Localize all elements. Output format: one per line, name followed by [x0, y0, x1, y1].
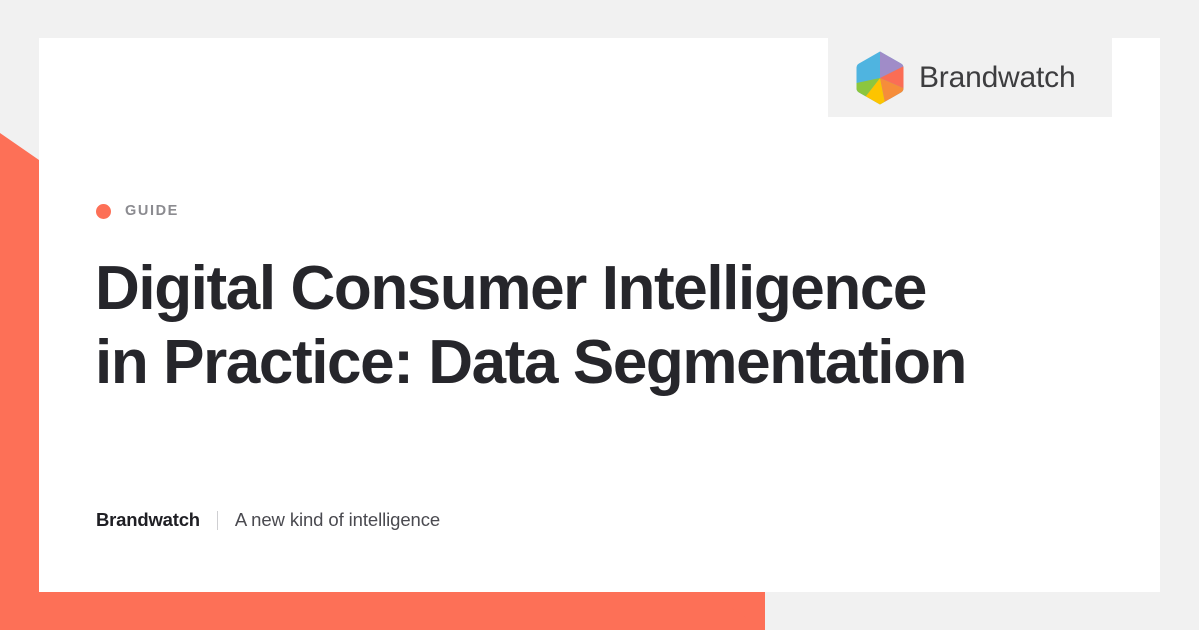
brandwatch-logo: Brandwatch	[828, 38, 1112, 117]
page-title-line-1: Digital Consumer Intelligence	[95, 252, 1105, 326]
brandwatch-hexagon-icon	[855, 51, 905, 105]
content-card: Brandwatch GUIDE Digital Consumer Intell…	[39, 38, 1160, 592]
eyebrow-label: GUIDE	[125, 203, 179, 219]
coral-dot-icon	[96, 204, 111, 219]
eyebrow: GUIDE	[96, 202, 179, 220]
page-title-line-2: in Practice: Data Segmentation	[95, 326, 1105, 400]
footer-tagline: A new kind of intelligence	[235, 509, 440, 531]
cover-canvas: Brandwatch GUIDE Digital Consumer Intell…	[0, 0, 1199, 630]
page-title: Digital Consumer Intelligence in Practic…	[95, 252, 1105, 400]
footer: Brandwatch A new kind of intelligence	[96, 508, 440, 532]
brandwatch-wordmark: Brandwatch	[919, 61, 1075, 95]
footer-divider	[217, 511, 218, 530]
footer-brand: Brandwatch	[96, 509, 200, 531]
